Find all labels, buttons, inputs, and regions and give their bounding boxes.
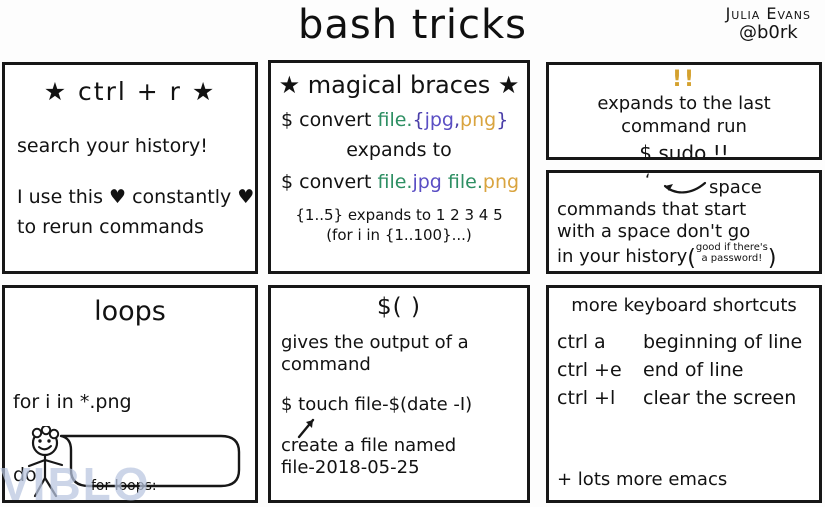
- loops-code-line-1: for i in *.png: [13, 390, 255, 414]
- space-label: space: [709, 177, 762, 198]
- panel-double-bang: !! expands to the last command run $ sud…: [546, 62, 822, 160]
- braces-command-before: $ convert file.{jpg,png}: [281, 109, 527, 131]
- table-row: ctrl +e end of line: [557, 356, 802, 384]
- braces-range-example: (for i in {1..100}...): [271, 225, 527, 245]
- space-line-3-wrap: in your history(good if there'sa passwor…: [557, 243, 819, 273]
- subshell-line-2: command: [281, 354, 527, 376]
- panel-bang-title: !!: [549, 67, 819, 92]
- shortcuts-footer-line-1: + lots more emacs: [557, 469, 819, 492]
- speech-bubble-text: for loops: easy & useful!: [91, 442, 192, 503]
- bang-example: $ sudo !!: [549, 141, 819, 160]
- panel-ctrl-r: ★ ctrl + r ★ search your history! I use …: [2, 62, 258, 274]
- braces-token-file-1: file.: [377, 171, 412, 193]
- braces-command-after: $ convert file.jpg file.png: [281, 171, 527, 193]
- bubble-line-1: for loops:: [91, 478, 192, 496]
- braces-token-file: file.: [377, 109, 412, 131]
- braces-range-note: {1..5} expands to 1 2 3 4 5 (for i in {1…: [271, 205, 527, 246]
- shortcuts-table: ctrl a beginning of line ctrl +e end of …: [557, 328, 802, 412]
- subshell-note: create a file named file-2018-05-25: [281, 435, 527, 479]
- panel-loops-title: loops: [5, 296, 255, 327]
- author-handle: @b0rk: [726, 24, 811, 43]
- space-line-1: commands that start: [557, 199, 819, 221]
- panel-space-body: commands that start with a space don't g…: [557, 199, 819, 273]
- ctrl-r-line-2: I use this ♥ constantly ♥: [17, 183, 255, 212]
- panel-braces-title: ★ magical braces ★: [271, 71, 527, 99]
- space-callout: ‘ space: [549, 173, 819, 199]
- braces-token-png-2: png: [483, 171, 519, 193]
- subshell-note-line-2: file-2018-05-25: [281, 457, 527, 479]
- braces-token-close: }: [496, 109, 508, 131]
- space-line-2: with a space don't go: [557, 221, 819, 243]
- braces-prompt: $ convert: [281, 109, 377, 131]
- panel-shortcuts-title: more keyboard shortcuts: [549, 295, 819, 316]
- braces-token-file-2: file.: [448, 171, 483, 193]
- ctrl-r-line-3: to rerun commands: [17, 213, 255, 242]
- subshell-command: $ touch file-$(date -I): [281, 394, 527, 415]
- table-row: ctrl a beginning of line: [557, 328, 802, 356]
- shortcut-key: ctrl +e: [557, 356, 643, 384]
- shortcut-action: clear the screen: [643, 384, 802, 412]
- shortcuts-footer: + lots more emacs shortcuts too!: [557, 424, 819, 503]
- braces-range-line: {1..5} expands to 1 2 3 4 5: [271, 205, 527, 225]
- panel-magical-braces: ★ magical braces ★ $ convert file.{jpg,p…: [268, 60, 530, 274]
- page-title: bash tricks: [0, 2, 825, 48]
- table-row: ctrl +l clear the screen: [557, 384, 802, 412]
- braces-prompt-2: $ convert: [281, 171, 377, 193]
- braces-token-png: png: [460, 109, 496, 131]
- braces-token-jpg-2: jpg: [412, 171, 441, 193]
- space-paren-close: ): [768, 246, 777, 271]
- space-note: good if there'sa password!: [696, 243, 768, 265]
- panel-subshell-body: gives the output of a command: [281, 332, 527, 376]
- panel-ctrl-r-title: ★ ctrl + r ★: [5, 77, 255, 106]
- up-arrow-icon: [295, 415, 321, 439]
- stick-figure-with-speech-bubble: for loops: easy & useful!: [15, 426, 255, 498]
- panel-keyboard-shortcuts: more keyboard shortcuts ctrl a beginning…: [546, 285, 822, 503]
- braces-token-jpg: jpg: [425, 109, 454, 131]
- braces-expands-label: expands to: [271, 139, 527, 161]
- author-name: Julia Evans: [726, 6, 811, 23]
- panel-ctrl-r-body: search your history! I use this ♥ consta…: [17, 132, 255, 242]
- shortcut-key: ctrl +l: [557, 384, 643, 412]
- shortcut-key: ctrl a: [557, 328, 643, 356]
- braces-token-open: {: [412, 109, 424, 131]
- panel-leading-space: ‘ space commands that start with a space…: [546, 170, 822, 274]
- panel-subshell-title: $( ): [271, 294, 527, 320]
- shortcut-action: end of line: [643, 356, 802, 384]
- panel-loops: loops for i in *.png do convert $i $i.jp…: [2, 285, 258, 503]
- space-line-3: in your history: [557, 246, 687, 267]
- spacer: [17, 161, 255, 183]
- shortcut-action: beginning of line: [643, 328, 802, 356]
- bang-line-2: command run: [549, 116, 819, 139]
- bang-line-1: expands to the last: [549, 93, 819, 116]
- space-note-line-2: a password!: [696, 254, 768, 265]
- infographic-canvas: bash tricks Julia Evans @b0rk ★ ctrl + r…: [0, 0, 825, 507]
- subshell-line-1: gives the output of a: [281, 332, 527, 354]
- space-paren-open: (: [687, 246, 696, 271]
- panel-command-substitution: $( ) gives the output of a command $ tou…: [268, 285, 530, 503]
- ctrl-r-line-1: search your history!: [17, 132, 255, 161]
- subshell-arrow-wrap: [295, 415, 527, 435]
- curved-arrow-icon: [645, 175, 715, 197]
- author-byline: Julia Evans @b0rk: [726, 6, 811, 43]
- panel-bang-body: expands to the last command run: [549, 93, 819, 138]
